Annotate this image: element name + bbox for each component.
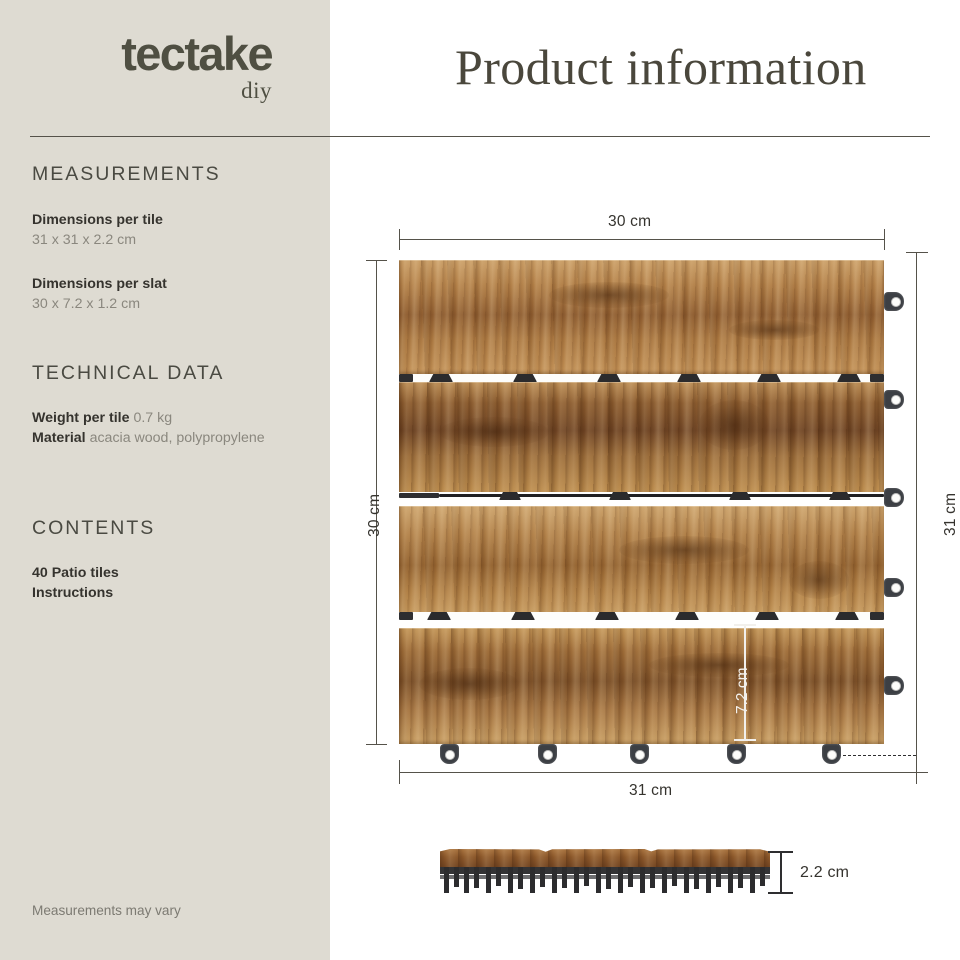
- slat-clip: [427, 612, 451, 620]
- profile-plastic-base: [440, 867, 770, 895]
- connector-loop-bottom: [822, 744, 841, 764]
- sidebar: tectake diy MEASUREMENTS Dimensions per …: [0, 0, 330, 960]
- connector-loop-bottom: [630, 744, 649, 764]
- value-dimensions-per-tile: 31 x 31 x 2.2 cm: [32, 232, 136, 248]
- slat-width-measure-line: [744, 624, 746, 740]
- measurement-per-tile: Dimensions per tile 31 x 31 x 2.2 cm: [32, 210, 312, 250]
- connector-loop-bottom: [727, 744, 746, 764]
- tile-side-profile: [440, 849, 770, 897]
- left-dimension-tick-bottom: [366, 744, 387, 745]
- measurement-per-slat: Dimensions per slat 30 x 7.2 x 1.2 cm: [32, 274, 312, 314]
- contents-item-instructions: Instructions: [32, 585, 113, 601]
- top-dimension-line: [399, 239, 885, 240]
- connector-loop-right: [884, 292, 904, 311]
- product-information-sheet: tectake diy MEASUREMENTS Dimensions per …: [0, 0, 960, 960]
- slat-clip: [870, 374, 884, 382]
- top-dimension-tick-right: [884, 229, 885, 250]
- contents-item-patio-tiles: 40 Patio tiles: [32, 565, 119, 581]
- slat-clip-rail: [439, 494, 884, 497]
- wood-knot: [699, 400, 769, 450]
- label-dimensions-per-tile: Dimensions per tile: [32, 212, 163, 228]
- top-dimension-label: 30 cm: [608, 213, 651, 231]
- connector-loop-bottom: [440, 744, 459, 764]
- slat-1: [399, 260, 884, 374]
- bottom-dimension-label: 31 cm: [629, 782, 672, 800]
- slat-clip: [399, 612, 413, 620]
- thickness-tick-bottom: [768, 892, 793, 894]
- wood-knot: [729, 320, 819, 340]
- value-dimensions-per-slat: 30 x 7.2 x 1.2 cm: [32, 296, 140, 312]
- thickness-tick-top: [768, 851, 793, 853]
- slat-clip: [755, 612, 779, 620]
- profile-base-rail: [440, 867, 770, 874]
- slat-width-label: 7.2 cm: [734, 667, 752, 714]
- bottom-dimension-line: [399, 772, 917, 773]
- slat-3: [399, 506, 884, 620]
- slat-clip: [829, 492, 851, 500]
- value-material: acacia wood, polypropylene: [90, 430, 265, 446]
- section-heading-measurements: MEASUREMENTS: [32, 163, 221, 186]
- slat-clip: [757, 374, 781, 382]
- slat-clip: [675, 612, 699, 620]
- tile-top-view: [399, 260, 884, 744]
- dashed-extension-horizontal: [838, 755, 916, 756]
- section-heading-contents: CONTENTS: [32, 517, 155, 540]
- contents-list: 40 Patio tiles Instructions: [32, 563, 312, 603]
- slat-clip: [677, 374, 701, 382]
- slat-gap-2: [399, 492, 884, 500]
- label-material: Material: [32, 430, 86, 446]
- brand-subtitle: diy: [0, 79, 272, 102]
- right-dimension-label: 31 cm: [942, 493, 960, 536]
- slat-clip: [511, 612, 535, 620]
- slat-clip: [729, 492, 751, 500]
- left-dimension-line: [376, 260, 377, 744]
- slat-clip: [609, 492, 631, 500]
- connector-loop-right: [884, 488, 904, 507]
- wood-knot: [549, 282, 669, 308]
- page-title: Product information: [455, 38, 867, 96]
- slat-clip: [399, 493, 439, 498]
- right-dimension-tick-bottom: [906, 772, 928, 773]
- slat-clip: [597, 374, 621, 382]
- slat-gap-3: [399, 612, 884, 620]
- top-dimension-tick-left: [399, 229, 400, 250]
- header-divider: [30, 136, 930, 137]
- slat-4: [399, 628, 884, 744]
- slat-width-measure-cap-top: [734, 624, 756, 626]
- slat-width-measure-cap-bottom: [734, 739, 756, 741]
- thickness-dimension-line: [780, 851, 782, 893]
- bottom-dimension-tick-right: [916, 760, 917, 784]
- section-heading-technical-data: TECHNICAL DATA: [32, 362, 224, 385]
- left-dimension-label: 30 cm: [366, 494, 384, 537]
- dashed-extension-vertical: [838, 730, 839, 756]
- connector-loop-bottom: [538, 744, 557, 764]
- left-dimension-tick-top: [366, 260, 387, 261]
- value-weight-per-tile: 0.7 kg: [133, 410, 172, 426]
- slat-clip: [595, 612, 619, 620]
- slat-clip: [429, 374, 453, 382]
- label-dimensions-per-slat: Dimensions per slat: [32, 276, 167, 292]
- thickness-dimension-label: 2.2 cm: [800, 864, 849, 882]
- right-dimension-line: [916, 252, 917, 772]
- slat-clip: [513, 374, 537, 382]
- wood-knot: [789, 561, 849, 599]
- bottom-dimension-tick-left: [399, 760, 400, 784]
- footnote-measurements-may-vary: Measurements may vary: [32, 903, 181, 918]
- wood-knot: [649, 653, 789, 677]
- wood-knot: [619, 536, 749, 564]
- right-dimension-tick-top: [906, 252, 928, 253]
- slat-clip: [399, 374, 413, 382]
- brand-name: tectake: [0, 30, 272, 77]
- profile-wood-layer: [440, 849, 770, 869]
- slat-clip: [499, 492, 521, 500]
- wood-knot: [419, 668, 519, 700]
- profile-base-rail-secondary: [440, 875, 770, 879]
- slat-gap-1: [399, 374, 884, 382]
- brand-logo: tectake diy: [0, 30, 330, 102]
- connector-loop-right: [884, 578, 904, 597]
- slat-clip: [870, 612, 884, 620]
- connector-loop-right: [884, 390, 904, 409]
- slat-clip: [837, 374, 861, 382]
- technical-data-list: Weight per tile 0.7 kg Material acacia w…: [32, 408, 312, 448]
- wood-knot: [439, 417, 549, 447]
- connector-loop-right: [884, 676, 904, 695]
- slat-2: [399, 382, 884, 498]
- slat-clip: [835, 612, 859, 620]
- label-weight-per-tile: Weight per tile: [32, 410, 129, 426]
